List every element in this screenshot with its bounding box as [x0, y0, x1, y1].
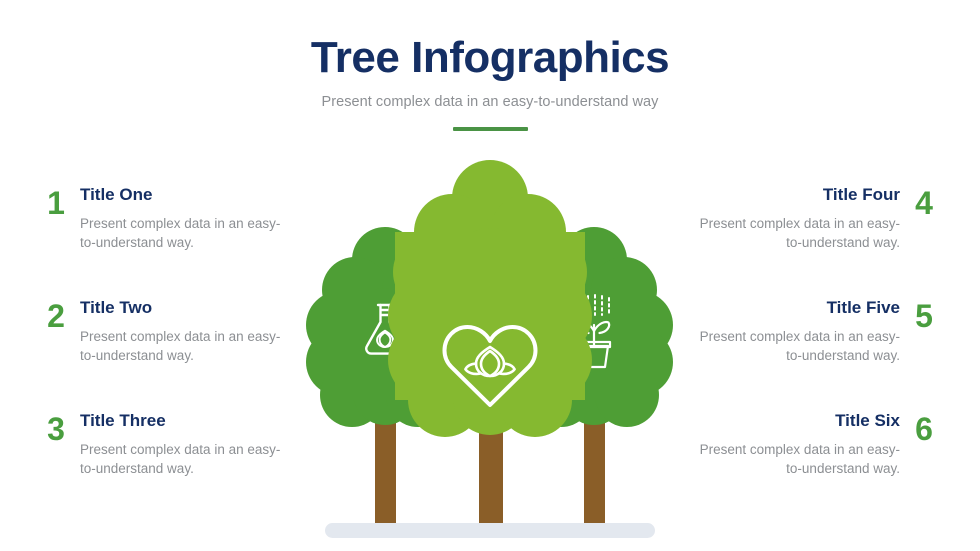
- list-item[interactable]: 3 Title Three Present complex data in an…: [36, 412, 336, 525]
- item-title: Title Five: [644, 299, 900, 318]
- item-number: 1: [36, 186, 76, 218]
- item-title: Title Two: [80, 299, 336, 318]
- item-number: 3: [36, 412, 76, 444]
- item-number: 6: [904, 412, 944, 444]
- item-title: Title Six: [644, 412, 900, 431]
- item-description: Present complex data in an easy-to-under…: [80, 318, 295, 366]
- tree-illustration: [300, 150, 680, 540]
- item-number: 5: [904, 299, 944, 331]
- item-description: Present complex data in an easy-to-under…: [685, 431, 900, 479]
- item-number: 4: [904, 186, 944, 218]
- list-item[interactable]: 2 Title Two Present complex data in an e…: [36, 299, 336, 412]
- left-items-column: 1 Title One Present complex data in an e…: [36, 186, 336, 525]
- item-title: Title Four: [644, 186, 900, 205]
- item-title: Title Three: [80, 412, 336, 431]
- list-item[interactable]: 6 Title Six Present complex data in an e…: [644, 412, 944, 525]
- tree-center[interactable]: [388, 160, 592, 525]
- tree-center-canopy: [388, 160, 592, 437]
- item-description: Present complex data in an easy-to-under…: [685, 318, 900, 366]
- item-description: Present complex data in an easy-to-under…: [685, 205, 900, 253]
- title-divider: [453, 127, 528, 131]
- page-title: Tree Infographics: [0, 36, 980, 80]
- list-item[interactable]: 1 Title One Present complex data in an e…: [36, 186, 336, 299]
- ground-bar: [325, 523, 655, 538]
- list-item[interactable]: 5 Title Five Present complex data in an …: [644, 299, 944, 412]
- item-description: Present complex data in an easy-to-under…: [80, 205, 295, 253]
- list-item[interactable]: 4 Title Four Present complex data in an …: [644, 186, 944, 299]
- item-number: 2: [36, 299, 76, 331]
- item-description: Present complex data in an easy-to-under…: [80, 431, 295, 479]
- right-items-column: 4 Title Four Present complex data in an …: [644, 186, 944, 525]
- page-subtitle: Present complex data in an easy-to-under…: [0, 80, 980, 110]
- header: Tree Infographics Present complex data i…: [0, 0, 980, 131]
- item-title: Title One: [80, 186, 336, 205]
